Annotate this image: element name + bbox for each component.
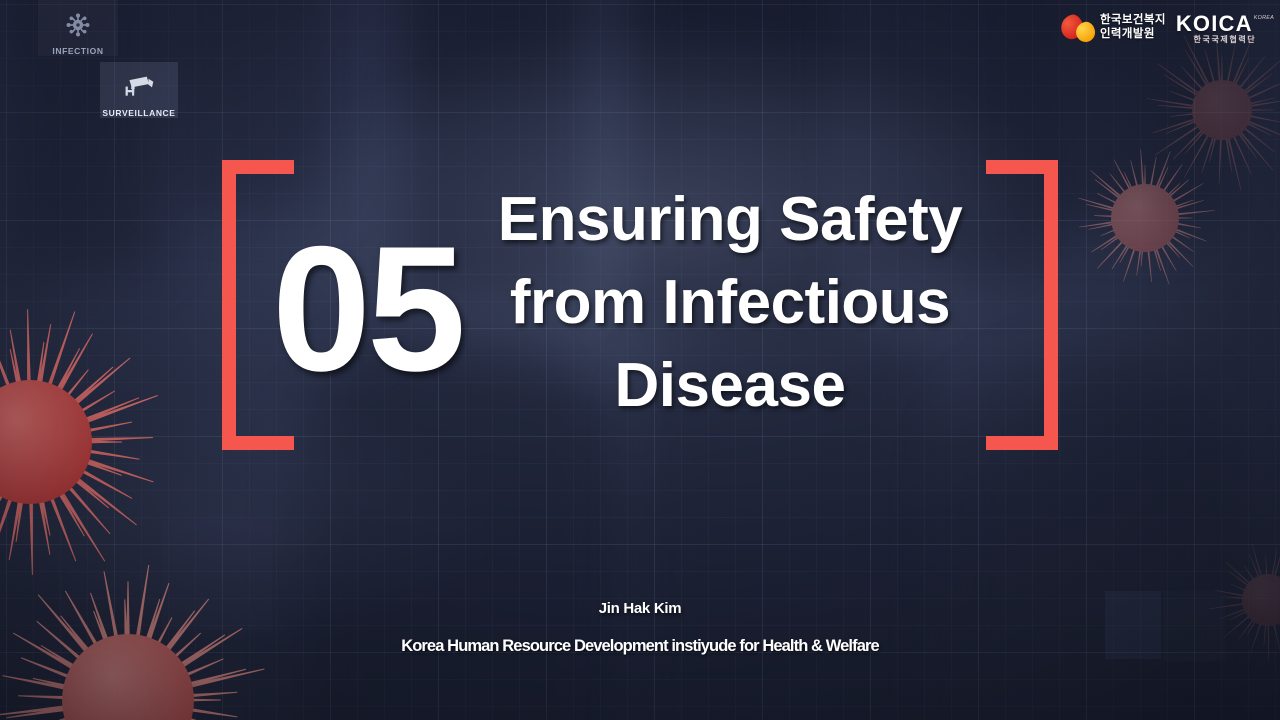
corner-tag-label: SURVEILLANCE xyxy=(102,108,175,118)
slide-title-line-2: from Infectious xyxy=(420,261,1040,344)
virus-icon xyxy=(65,12,91,43)
presenter-organization: Korea Human Resource Development instiyu… xyxy=(0,637,1280,656)
koica-sub-english: KOREA xyxy=(1254,16,1274,22)
presenter-block: Jin Hak Kim Korea Human Resource Develop… xyxy=(0,600,1280,656)
koica-sub-korean: 한국국제협력단 xyxy=(1194,36,1257,44)
slide-title-line-1: Ensuring Safety xyxy=(420,178,1040,261)
corner-tag-label: INFECTION xyxy=(52,46,103,56)
kohi-blob-mark-icon xyxy=(1061,13,1095,43)
slide-title-line-3: Disease xyxy=(420,344,1040,427)
kohi-logo-line1: 한국보건복지 xyxy=(1100,14,1166,28)
slide-title: Ensuring Safety from Infectious Disease xyxy=(420,178,1040,427)
presenter-name: Jin Hak Kim xyxy=(0,600,1280,617)
corner-tag-surveillance: SURVEILLANCE xyxy=(100,62,178,118)
kohi-logo-line2: 인력개발원 xyxy=(1100,28,1166,42)
koica-wordmark: KOICA xyxy=(1176,13,1253,35)
logo-block: 한국보건복지 인력개발원 KOICA KOREA 한국국제협력단 xyxy=(1061,6,1274,50)
corner-tag-infection: INFECTION xyxy=(38,0,118,56)
koica-logo: KOICA KOREA 한국국제협력단 xyxy=(1176,13,1274,44)
presentation-slide: INFECTION SURVEILLANCE xyxy=(0,0,1280,720)
kohi-logo: 한국보건복지 인력개발원 xyxy=(1061,13,1166,43)
cctv-camera-icon xyxy=(123,74,155,105)
